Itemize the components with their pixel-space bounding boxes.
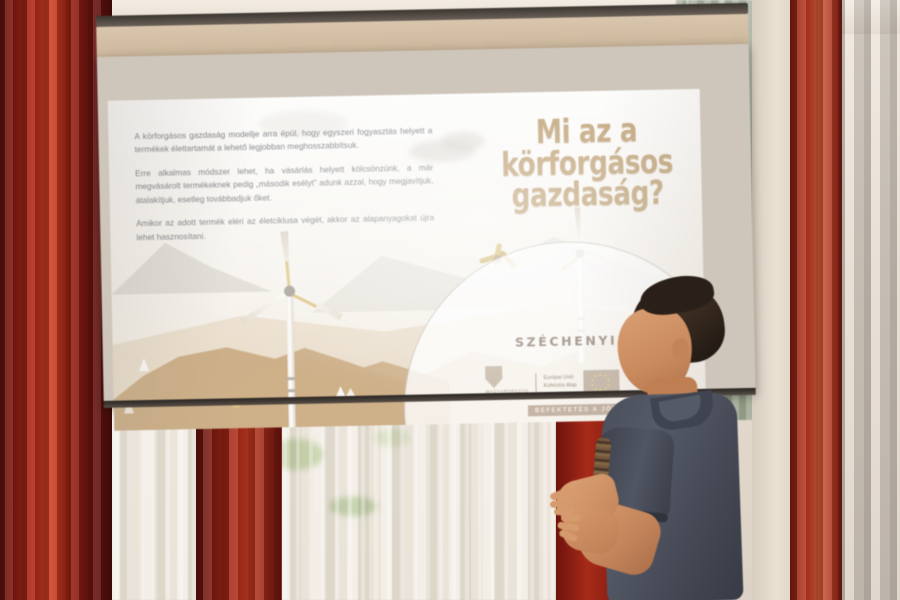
screenshot-root: Mi az a körforgásos gazdaság? A körforgá… xyxy=(0,0,900,600)
turbine-mast xyxy=(286,289,296,427)
slide-paragraph-2: Erre alkalmas módszer lehet, ha vásárlás… xyxy=(135,161,434,207)
turbine-band xyxy=(287,389,296,392)
presenter xyxy=(556,282,776,600)
turbine-band xyxy=(287,377,296,380)
logo-divider xyxy=(535,373,536,393)
red-curtain-right-inner xyxy=(790,0,842,600)
curtain-folds xyxy=(790,0,842,600)
slide-body-text: A körforgásos gazdaság modellje arra épü… xyxy=(134,124,434,254)
sailboat xyxy=(139,358,149,371)
red-curtain-right-outer xyxy=(838,0,900,600)
slide-paragraph-1: A körforgásos gazdaság modellje arra épü… xyxy=(134,124,432,157)
hungarian-coat-of-arms-icon xyxy=(485,366,502,388)
red-curtain-left xyxy=(0,0,112,600)
presenter-hand-lower xyxy=(559,505,621,556)
slide-paragraph-3: Amikor az adott termék eléri az életcikl… xyxy=(136,211,434,244)
curtain-folds xyxy=(0,0,112,600)
curtain-folds xyxy=(838,0,900,600)
slide-title: Mi az a körforgásos gazdaság? xyxy=(494,113,680,212)
slide-title-line-3: gazdaság? xyxy=(495,177,680,212)
presenter-ear xyxy=(672,338,689,361)
wind-turbine xyxy=(260,289,323,428)
